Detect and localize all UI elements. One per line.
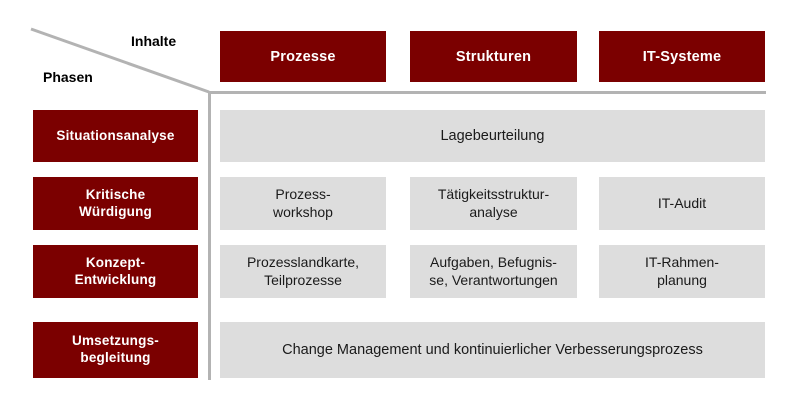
columns-axis-label: Inhalte bbox=[131, 33, 176, 49]
header-divider-horizontal bbox=[208, 91, 766, 94]
header-divider-vertical bbox=[208, 92, 211, 380]
cell-situationsanalyse-all[interactable]: Lagebeurteilung bbox=[220, 110, 765, 162]
row-header-label: Konzept- Entwicklung bbox=[75, 255, 157, 289]
phase-content-matrix: Inhalte Phasen Prozesse Strukturen IT-Sy… bbox=[0, 0, 800, 400]
row-header-label: Situationsanalyse bbox=[56, 128, 174, 145]
row-header-umsetzungsbegleitung[interactable]: Umsetzungs- begleitung bbox=[33, 322, 198, 378]
column-header-strukturen[interactable]: Strukturen bbox=[410, 31, 577, 82]
row-header-konzept-entwicklung[interactable]: Konzept- Entwicklung bbox=[33, 245, 198, 298]
cell-kritische-wuerdigung-it-systeme[interactable]: IT-Audit bbox=[599, 177, 765, 230]
column-header-label: IT-Systeme bbox=[643, 49, 722, 65]
cell-kritische-wuerdigung-strukturen[interactable]: Tätigkeitsstruktur- analyse bbox=[410, 177, 577, 230]
cell-label: Tätigkeitsstruktur- analyse bbox=[438, 186, 549, 221]
cell-konzept-entwicklung-it-systeme[interactable]: IT-Rahmen- planung bbox=[599, 245, 765, 298]
column-header-label: Strukturen bbox=[456, 49, 531, 65]
cell-konzept-entwicklung-prozesse[interactable]: Prozesslandkarte, Teilprozesse bbox=[220, 245, 386, 298]
row-header-label: Umsetzungs- begleitung bbox=[72, 333, 159, 367]
column-header-label: Prozesse bbox=[270, 49, 335, 65]
rows-axis-label: Phasen bbox=[43, 69, 93, 85]
row-header-label: Kritische Würdigung bbox=[79, 187, 152, 221]
cell-label: IT-Rahmen- planung bbox=[645, 254, 719, 289]
column-header-it-systeme[interactable]: IT-Systeme bbox=[599, 31, 765, 82]
column-header-prozesse[interactable]: Prozesse bbox=[220, 31, 386, 82]
cell-kritische-wuerdigung-prozesse[interactable]: Prozess- workshop bbox=[220, 177, 386, 230]
cell-konzept-entwicklung-strukturen[interactable]: Aufgaben, Befugnis- se, Verantwortungen bbox=[410, 245, 577, 298]
row-header-kritische-wuerdigung[interactable]: Kritische Würdigung bbox=[33, 177, 198, 230]
cell-label: Aufgaben, Befugnis- se, Verantwortungen bbox=[429, 254, 557, 289]
cell-label: IT-Audit bbox=[658, 195, 706, 213]
cell-umsetzungsbegleitung-all[interactable]: Change Management und kontinuierlicher V… bbox=[220, 322, 765, 378]
cell-label: Change Management und kontinuierlicher V… bbox=[282, 341, 703, 359]
row-header-situationsanalyse[interactable]: Situationsanalyse bbox=[33, 110, 198, 162]
cell-label: Prozess- workshop bbox=[273, 186, 333, 221]
cell-label: Lagebeurteilung bbox=[440, 127, 544, 145]
cell-label: Prozesslandkarte, Teilprozesse bbox=[247, 254, 359, 289]
